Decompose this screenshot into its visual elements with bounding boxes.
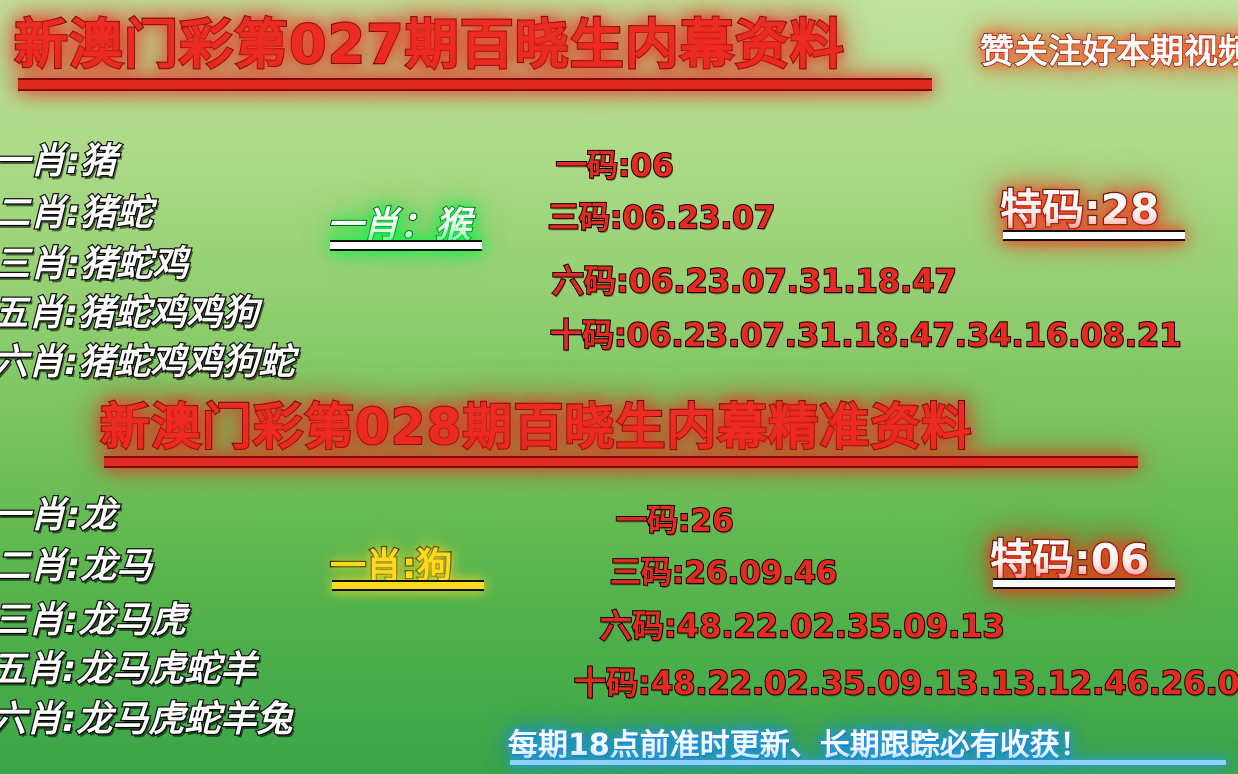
section1-code-row-3: 六码:06.23.07.31.18.47 bbox=[552, 256, 957, 302]
section2-code-row-1: 一码:26 bbox=[616, 495, 734, 540]
section2-zodiac-line-3: 三肖:龙马虎 bbox=[0, 591, 186, 643]
section2-special-code-underline bbox=[993, 578, 1175, 589]
footer-notice-underline bbox=[510, 760, 1226, 765]
section1-special-code: 特码:28 bbox=[1000, 176, 1159, 237]
section2-zodiac-line-5: 六肖:龙马虎蛇羊兔 bbox=[0, 690, 292, 742]
section2-zodiac-line-2: 二肖:龙马 bbox=[0, 537, 152, 589]
section2-code-row-4: 十码:48.22.02.35.09.13.13.12.46.26.03 bbox=[574, 658, 1238, 704]
footer-notice: 每期18点前准时更新、长期跟踪必有收获！ bbox=[508, 720, 1090, 764]
section1-special-code-underline bbox=[1003, 230, 1185, 241]
section1-code-row-1: 一码:06 bbox=[556, 140, 674, 185]
section2-title-underline bbox=[104, 456, 1138, 468]
section2-highlight-tag-underline bbox=[332, 580, 484, 591]
section1-highlight-tag-underline bbox=[330, 240, 482, 251]
section1-code-row-4: 十码:06.23.07.31.18.47.34.16.08.21 bbox=[550, 310, 1182, 356]
section2-code-row-2: 三码:26.09.46 bbox=[610, 547, 837, 592]
section1-zodiac-line-1: 一肖:猪 bbox=[0, 132, 116, 184]
section2-zodiac-line-1: 一肖:龙 bbox=[0, 486, 116, 538]
lottery-poster: 新澳门彩第027期百晓生内幕资料 赞关注好本期视频 一肖:猪 二肖:猪蛇 三肖:… bbox=[0, 0, 1238, 774]
section1-zodiac-line-2: 二肖:猪蛇 bbox=[0, 184, 152, 236]
section1-zodiac-line-5: 六肖:猪蛇鸡鸡狗蛇 bbox=[0, 333, 294, 385]
section1-zodiac-line-4: 五肖:猪蛇鸡鸡狗 bbox=[0, 284, 258, 336]
section1-title-underline bbox=[18, 78, 932, 91]
section1-promo-text: 赞关注好本期视频 bbox=[980, 32, 1238, 72]
section1-zodiac-line-3: 三肖:猪蛇鸡 bbox=[0, 235, 188, 287]
section1-title: 新澳门彩第027期百晓生内幕资料 bbox=[14, 14, 845, 76]
section1-code-row-2: 三码:06.23.07 bbox=[548, 192, 775, 237]
section2-code-row-3: 六码:48.22.02.35.09.13 bbox=[600, 601, 1005, 647]
section2-title: 新澳门彩第028期百晓生内幕精准资料 bbox=[100, 398, 972, 456]
section2-zodiac-line-4: 五肖:龙马虎蛇羊 bbox=[0, 640, 256, 692]
